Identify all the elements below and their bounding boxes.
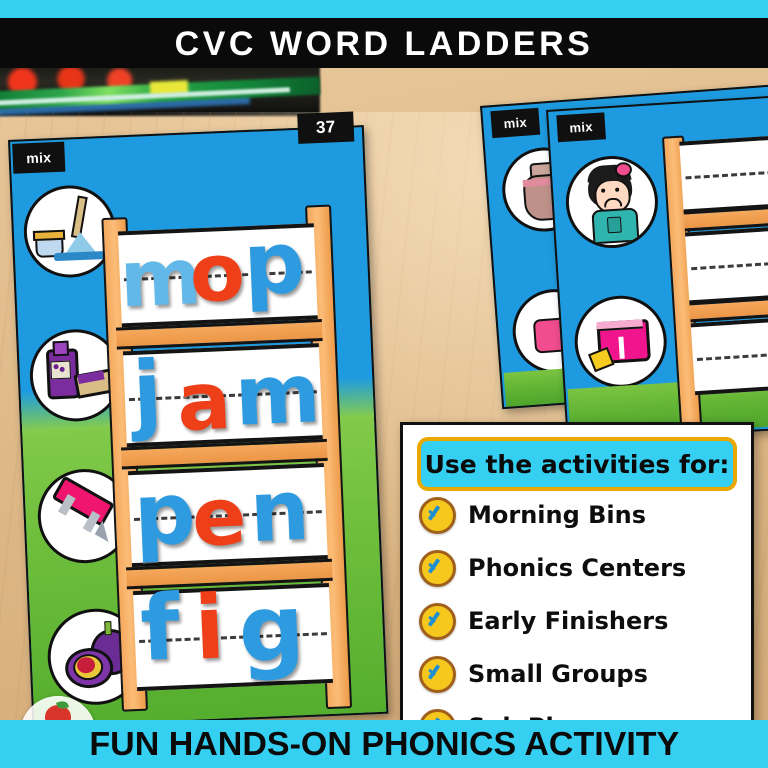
card-tab-label: mix: [490, 108, 540, 138]
info-list-item-2: Phonics Centers: [419, 544, 739, 592]
check-icon: [419, 603, 456, 640]
page-title: CVC WORD LADDERS: [175, 25, 594, 64]
magnet-letter: g: [237, 582, 307, 677]
ladder-rung: [685, 222, 768, 304]
top-accent-strip: [0, 0, 768, 18]
info-list-item-1: Morning Bins: [419, 491, 739, 539]
info-card-header: Use the activities for:: [417, 437, 737, 491]
magnet-letter: m: [233, 353, 322, 439]
info-list-item-3: Early Finishers: [419, 597, 739, 645]
card-tab-label: mix: [556, 112, 606, 142]
magnet-letter: n: [248, 468, 311, 554]
main-word-ladder-card: mix 37: [8, 125, 388, 720]
magnet-letter: p: [242, 220, 307, 309]
picture-clue-shorts: [572, 293, 670, 391]
magnet-letter: f: [139, 583, 182, 675]
magnet-letter: a: [175, 361, 232, 443]
magnet-letter: j: [131, 350, 164, 437]
check-icon: [419, 497, 456, 534]
screenshot-root: CVC WORD LADDERS mix: [0, 0, 768, 768]
check-icon: [419, 656, 456, 693]
page-number-tab: 37: [297, 112, 354, 144]
info-item-label: Phonics Centers: [468, 554, 686, 582]
info-item-label: Morning Bins: [468, 501, 646, 529]
check-icon: [419, 709, 456, 721]
info-item-label: Early Finishers: [468, 607, 668, 635]
card-tab-label: mix: [12, 142, 65, 174]
magnet-letter: o: [188, 232, 246, 314]
magnet-letter: p: [132, 471, 197, 560]
check-icon: [419, 550, 456, 587]
product-photo: mix mix: [0, 68, 768, 720]
info-card: Use the activities for: Morning Bins Pho…: [400, 422, 754, 720]
ladder-rung: [679, 132, 768, 214]
magnet-letter: i: [193, 583, 227, 672]
picture-clue-sad-girl: [563, 153, 661, 251]
header-banner: CVC WORD LADDERS: [0, 18, 768, 70]
info-item-label: Small Groups: [468, 660, 648, 688]
footer-title: FUN HANDS-ON PHONICS ACTIVITY: [89, 725, 679, 763]
info-item-label: Sub Plans: [468, 713, 601, 720]
info-card-header-label: Use the activities for:: [425, 450, 730, 479]
background-card-mid: mix: [546, 93, 768, 443]
info-list-item-4: Small Groups: [419, 650, 739, 698]
info-list-item-5: Sub Plans: [419, 703, 739, 720]
footer-banner: FUN HANDS-ON PHONICS ACTIVITY: [0, 720, 768, 768]
magnet-letter: e: [190, 476, 248, 558]
ladder-rung: [691, 313, 768, 395]
